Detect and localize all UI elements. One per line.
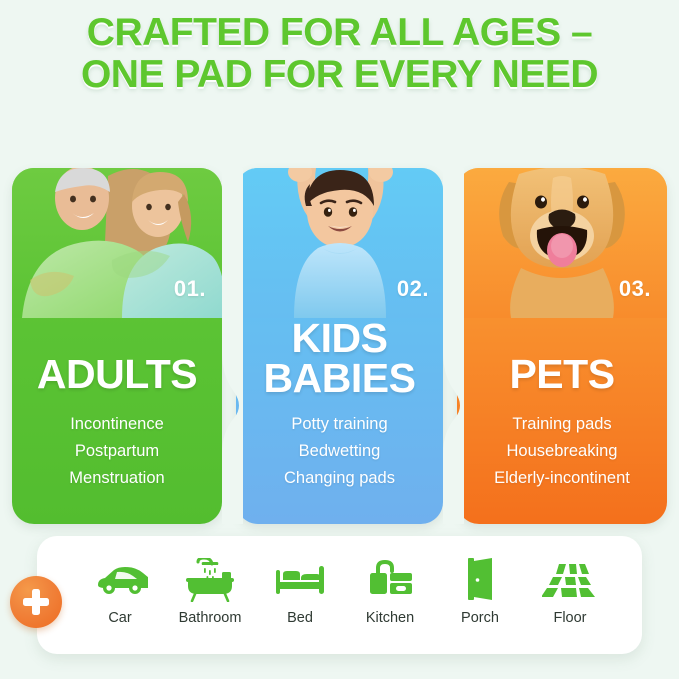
headline-line-2: ONE PAD FOR EVERY NEED <box>0 54 679 96</box>
usage-item-label: Car <box>108 610 131 626</box>
usage-icon-row: Car Bathroom <box>75 556 655 646</box>
usage-item-porch[interactable]: Porch <box>435 556 525 626</box>
audience-cards: 01. ADULTS Incontinence Postpartum Menst… <box>0 168 679 524</box>
card-pets-number: 03. <box>619 276 651 302</box>
usage-item-floor[interactable]: Floor <box>525 556 615 626</box>
card-pets[interactable]: 03. PETS Training pads Housebreaking Eld… <box>457 168 667 524</box>
list-item: Training pads <box>457 411 667 438</box>
plus-icon[interactable] <box>10 576 62 628</box>
card-pets-list: Training pads Housebreaking Elderly-inco… <box>457 411 667 492</box>
list-item: Changing pads <box>236 465 443 492</box>
usage-item-bed[interactable]: Bed <box>255 556 345 626</box>
card-adults-list: Incontinence Postpartum Menstruation <box>12 411 222 492</box>
list-item: Housebreaking <box>457 438 667 465</box>
bathtub-icon <box>184 556 236 604</box>
card-kids-babies-title: KIDS BABIES <box>236 318 443 398</box>
list-item: Potty training <box>236 411 443 438</box>
list-item: Bedwetting <box>236 438 443 465</box>
card-kids-babies-number: 02. <box>397 276 429 302</box>
card-adults-number: 01. <box>174 276 206 302</box>
floor-planks-icon <box>542 556 598 604</box>
list-item: Elderly-incontinent <box>457 465 667 492</box>
headline-line-1: CRAFTED FOR ALL AGES – <box>87 11 592 54</box>
door-icon <box>460 556 500 604</box>
usage-item-label: Floor <box>553 610 586 626</box>
card-adults-title: ADULTS <box>12 354 222 394</box>
card-pets-title: PETS <box>457 354 667 394</box>
card-kids-babies[interactable]: 02. KIDS BABIES Potty training Bedwettin… <box>236 168 443 524</box>
usage-item-kitchen[interactable]: Kitchen <box>345 556 435 626</box>
kitchen-sink-icon <box>364 556 416 604</box>
list-item: Incontinence <box>12 411 222 438</box>
page-title: CRAFTED FOR ALL AGES – ONE PAD FOR EVERY… <box>0 12 679 95</box>
usage-item-label: Bathroom <box>179 610 242 626</box>
usage-item-label: Kitchen <box>366 610 414 626</box>
card-adults[interactable]: 01. ADULTS Incontinence Postpartum Menst… <box>12 168 222 524</box>
list-item: Postpartum <box>12 438 222 465</box>
bed-icon <box>273 556 327 604</box>
usage-item-bathroom[interactable]: Bathroom <box>165 556 255 626</box>
usage-item-label: Porch <box>461 610 499 626</box>
card-title-line: KIDS <box>236 318 443 358</box>
card-kids-babies-list: Potty training Bedwetting Changing pads <box>236 411 443 492</box>
usage-item-label: Bed <box>287 610 313 626</box>
car-icon <box>92 556 148 604</box>
infographic-page: CRAFTED FOR ALL AGES – ONE PAD FOR EVERY… <box>0 0 679 679</box>
usage-item-car[interactable]: Car <box>75 556 165 626</box>
card-title-line: BABIES <box>236 358 443 398</box>
list-item: Menstruation <box>12 465 222 492</box>
